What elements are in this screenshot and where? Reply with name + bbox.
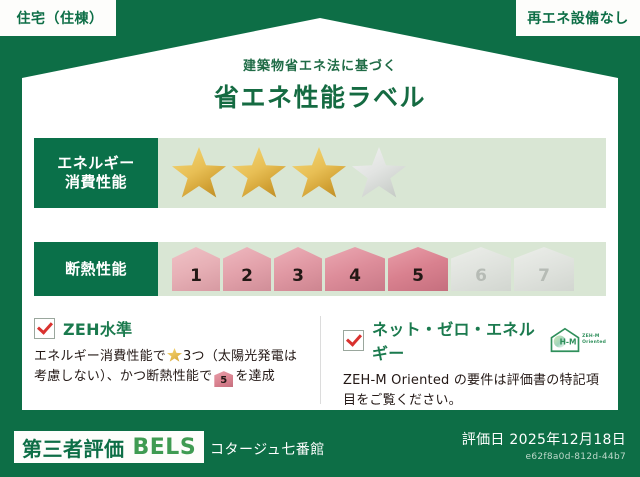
evaluation-date: 評価日 2025年12月18日: [462, 429, 626, 449]
zeh-m-logo-caption: ZEH-M Oriented: [582, 334, 606, 345]
star-icon-filled-2: [232, 147, 286, 199]
insulation-key-text: 断熱性能: [65, 260, 127, 279]
insulation-badge-3: 3: [274, 247, 322, 291]
energy-performance-label-key: エネルギー 消費性能: [34, 138, 158, 208]
insulation-performance-label-key: 断熱性能: [34, 242, 158, 296]
energy-performance-row: エネルギー 消費性能: [34, 138, 606, 208]
insulation-badge-7: 7: [514, 247, 574, 291]
zeh-m-logo: H-M ZEH-M Oriented: [550, 327, 606, 353]
zeh-standard-note: ZEH水準 エネルギー消費性能で3つ（太陽光発電は考慮しない）、かつ断熱性能で5…: [34, 316, 320, 404]
insulation-performance-row: 断熱性能 1 2 3 4 5 6 7: [34, 242, 606, 296]
zeh-m-logo-text: H-M: [560, 338, 577, 347]
renewable-equipment-tag: 再エネ設備なし: [516, 0, 640, 36]
zeh-m-caption-line2: Oriented: [582, 340, 606, 345]
star-icon-empty-4: [352, 147, 406, 199]
insulation-badge-icon-inline: 5: [214, 371, 233, 387]
insulation-badge-6: 6: [451, 247, 511, 291]
zeh-body-part1: エネルギー消費性能で: [34, 349, 166, 364]
insulation-badge-1: 1: [172, 247, 220, 291]
zeh-m-house-icon: H-M: [550, 327, 580, 353]
energy-key-line1: エネルギー: [57, 154, 135, 173]
notes-section: ZEH水準 エネルギー消費性能で3つ（太陽光発電は考慮しない）、かつ断熱性能で5…: [34, 316, 606, 404]
star-icon-inline: [167, 348, 182, 362]
net-zero-energy-note: ネット・ゼロ・エネルギー H-M: [320, 316, 606, 404]
zeh-standard-title: ZEH水準: [63, 316, 132, 340]
star-icon-filled-3: [292, 147, 346, 199]
energy-performance-label: 住宅（住棟） 再エネ設備なし 建築物省エネ法に基づく 省エネ性能ラベル エネルギ…: [0, 0, 640, 477]
check-icon-net-zero: [343, 330, 364, 351]
building-type-tag: 住宅（住棟）: [0, 0, 116, 36]
energy-star-rating: [158, 138, 606, 208]
building-name: コタージュ七番館: [210, 439, 325, 459]
evaluation-id: e62f8a0d-812d-44b7: [462, 452, 626, 462]
bels-japanese-label: 第三者評価: [22, 433, 125, 462]
zeh-standard-heading: ZEH水準: [34, 316, 304, 340]
zeh-standard-body: エネルギー消費性能で3つ（太陽光発電は考慮しない）、かつ断熱性能で5を達成: [34, 347, 304, 387]
bels-badge: 第三者評価 BELS: [14, 431, 204, 463]
insulation-level-scale: 1 2 3 4 5 6 7: [158, 242, 606, 296]
zeh-body-part3: を達成: [235, 369, 275, 384]
net-zero-energy-title: ネット・ゼロ・エネルギー: [372, 316, 538, 364]
check-icon-zeh-standard: [34, 318, 55, 339]
insulation-badge-4: 4: [325, 247, 385, 291]
net-zero-energy-body: ZEH-M Oriented の要件は評価書の特記項目をご覧ください。: [343, 371, 606, 411]
evaluation-info: 評価日 2025年12月18日 e62f8a0d-812d-44b7: [462, 429, 626, 462]
zeh-body-starcount: 3つ: [183, 349, 205, 364]
insulation-badge-5: 5: [388, 247, 448, 291]
star-icon-filled-1: [172, 147, 226, 199]
bels-logo-text: BELS: [133, 435, 197, 460]
energy-key-line2: 消費性能: [65, 173, 127, 192]
insulation-badge-2: 2: [223, 247, 271, 291]
footer-bar: 第三者評価 BELS コタージュ七番館 評価日 2025年12月18日 e62f…: [0, 419, 640, 477]
zeh-m-caption-line1: ZEH-M: [582, 334, 599, 339]
net-zero-energy-heading: ネット・ゼロ・エネルギー H-M: [343, 316, 606, 364]
